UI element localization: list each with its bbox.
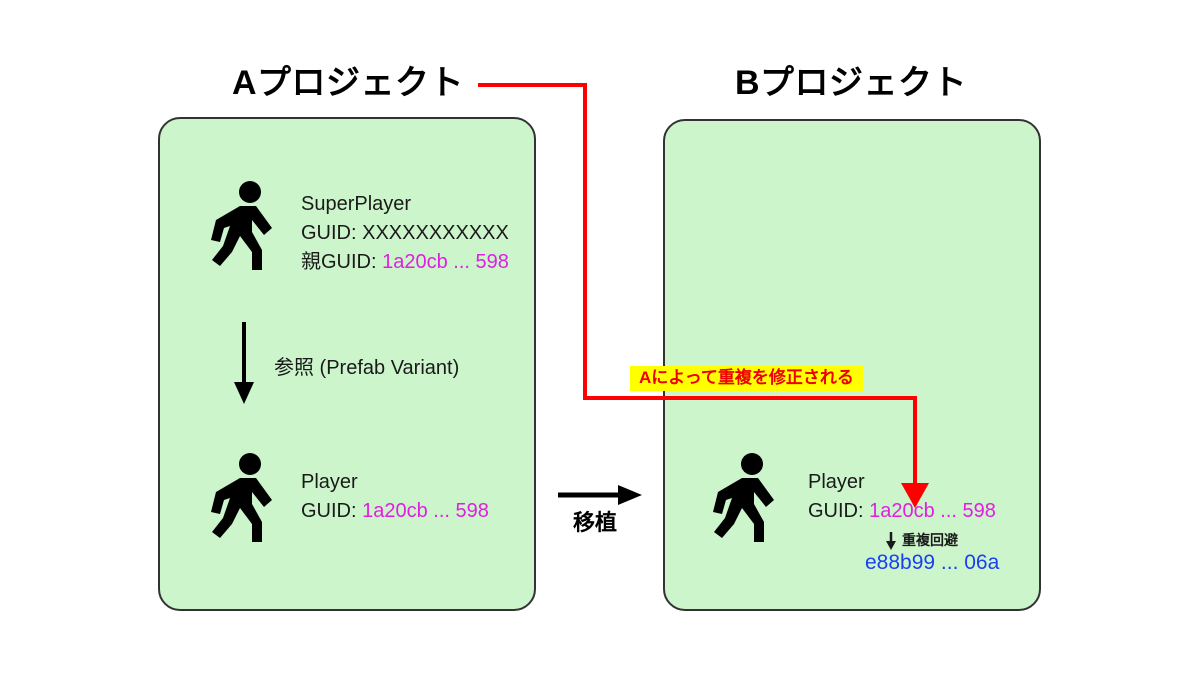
- migration-label: 移植: [573, 505, 617, 537]
- walking-person-icon: [210, 452, 280, 544]
- project-a-player-guid-value: 1a20cb ... 598: [362, 500, 489, 522]
- project-a-title: Aプロジェクト: [232, 66, 464, 100]
- super-player-parent-guid-value: 1a20cb ... 598: [382, 251, 509, 273]
- project-b-player-new-guid: e88b99 ... 06a: [865, 551, 999, 575]
- super-player-guid-line: GUID: XXXXXXXXXXX: [301, 219, 509, 248]
- super-player-guid-value: XXXXXXXXXXX: [362, 222, 509, 244]
- duplicate-fix-note: Aによって重複を修正される: [630, 366, 863, 391]
- project-b-player-guid-line: GUID: 1a20cb ... 598: [808, 497, 996, 526]
- reference-arrow-icon: [228, 322, 260, 404]
- project-a-player-name: Player: [301, 468, 489, 497]
- project-a-player-guid-label: GUID:: [301, 500, 362, 522]
- super-player-name: SuperPlayer: [301, 190, 509, 219]
- walking-person-icon: [712, 452, 782, 544]
- project-b-player-name: Player: [808, 468, 996, 497]
- walking-person-icon: [210, 180, 280, 272]
- duplicate-avoid-label: 重複回避: [884, 530, 958, 550]
- super-player-parent-guid-label: 親GUID:: [301, 251, 382, 273]
- project-b-player-guid-value: 1a20cb ... 598: [869, 500, 996, 522]
- project-b-title: Bプロジェクト: [735, 66, 967, 100]
- super-player-info: SuperPlayer GUID: XXXXXXXXXXX 親GUID: 1a2…: [301, 190, 509, 277]
- super-player-guid-label: GUID:: [301, 222, 362, 244]
- project-b-player-guid-label: GUID:: [808, 500, 869, 522]
- reference-label: 参照 (Prefab Variant): [274, 351, 459, 380]
- project-b-player-info: Player GUID: 1a20cb ... 598: [808, 468, 996, 526]
- project-a-player-guid-line: GUID: 1a20cb ... 598: [301, 497, 489, 526]
- diagram-canvas: Aプロジェクト Bプロジェクト SuperPlayer GUID: XXXXXX…: [0, 0, 1200, 675]
- super-player-parent-guid-line: 親GUID: 1a20cb ... 598: [301, 248, 509, 277]
- project-a-player-info: Player GUID: 1a20cb ... 598: [301, 468, 489, 526]
